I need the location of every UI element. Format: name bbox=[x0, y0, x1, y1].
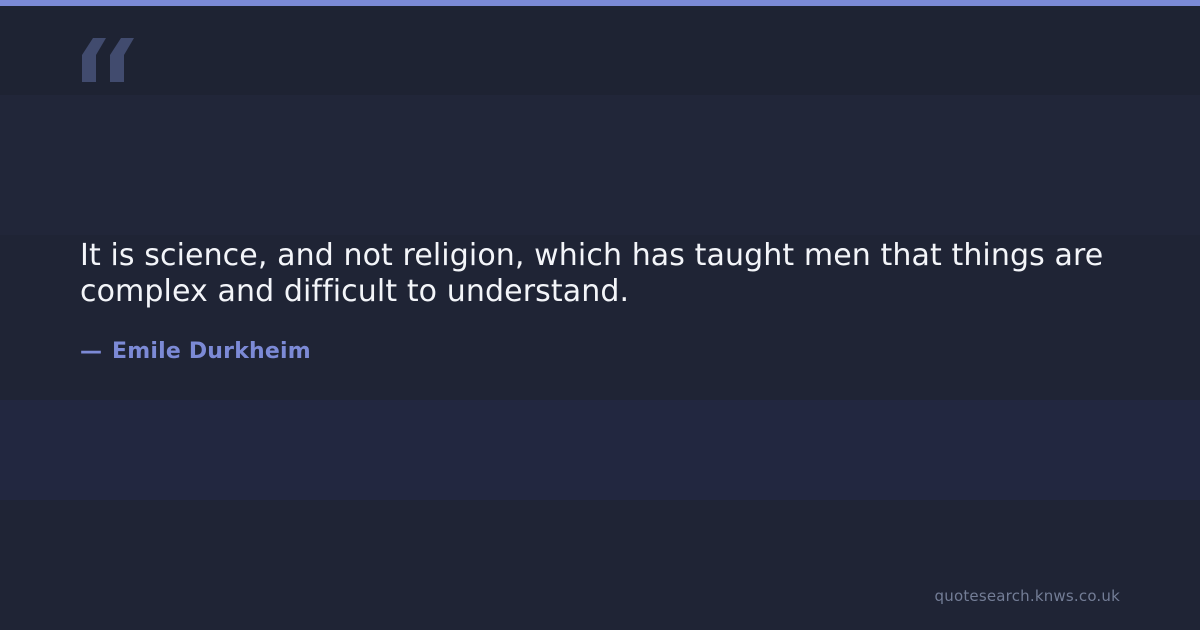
top-accent-bar bbox=[0, 0, 1200, 6]
double-quote-open-icon bbox=[80, 36, 140, 84]
site-watermark: quotesearch.knws.co.uk bbox=[935, 587, 1120, 605]
quote-body: It is science, and not religion, which h… bbox=[80, 238, 1120, 310]
quote-card: It is science, and not religion, which h… bbox=[0, 0, 1200, 630]
attribution-dash: — bbox=[80, 338, 102, 366]
quote-attribution: — Emile Durkheim bbox=[80, 338, 311, 366]
attribution-author-name: Emile Durkheim bbox=[112, 338, 311, 366]
quote-text: It is science, and not religion, which h… bbox=[80, 238, 1120, 310]
